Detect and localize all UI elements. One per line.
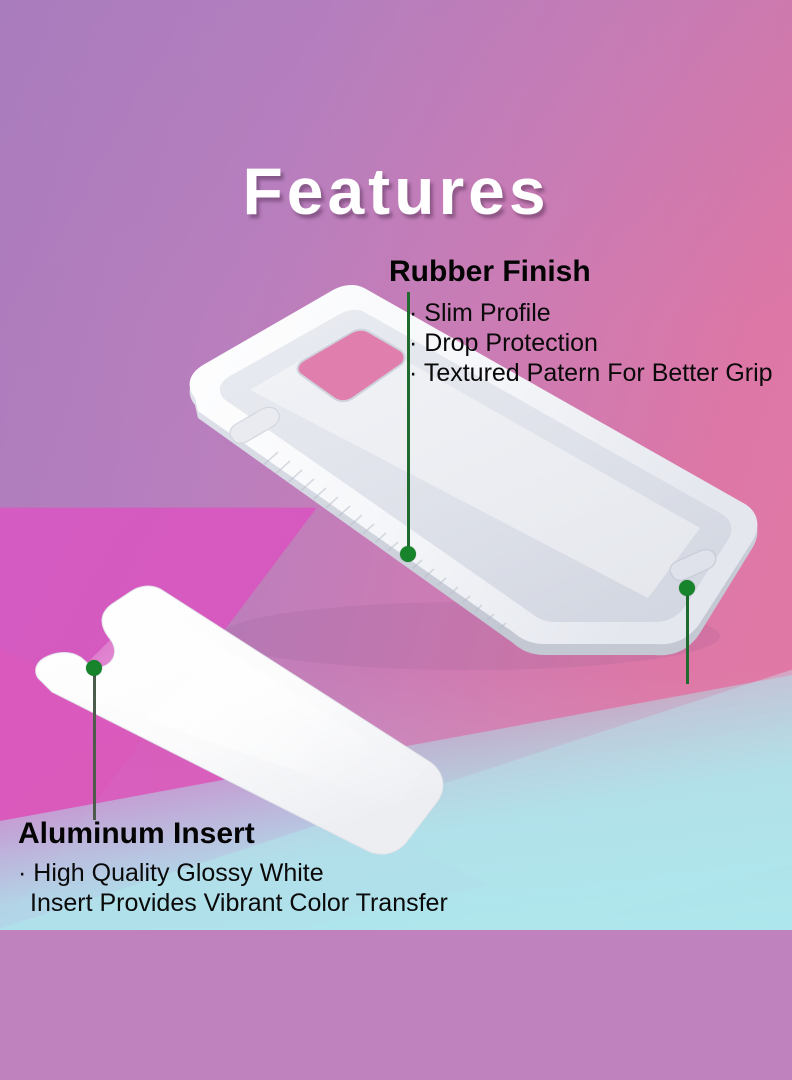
bullet-item: · Slim Profile [409,298,773,328]
bullet-item: Insert Provides Vibrant Color Transfer [18,888,448,918]
leader-line-aluminum-insert [93,672,96,820]
page-title: Features [0,158,792,224]
callout-marker-aluminum-insert [86,660,102,676]
callout-marker-port-opening [679,580,695,596]
bullet-item: · Textured Patern For Better Grip [409,358,773,388]
callout-heading-aluminum-insert: Aluminum Insert [18,818,255,849]
callout-body-rubber-finish: · Slim Profile · Drop Protection · Textu… [409,298,773,388]
background-bottom-band [0,930,792,1080]
bullet-item: · High Quality Glossy White [18,858,448,888]
callout-body-aluminum-insert: · High Quality Glossy White Insert Provi… [18,858,448,918]
bullet-item: · Drop Protection [409,328,773,358]
callout-marker-rubber-finish [400,546,416,562]
callout-heading-rubber-finish: Rubber Finish [389,256,591,287]
features-infographic: Features [0,0,792,1080]
leader-line-port-opening [686,592,689,684]
